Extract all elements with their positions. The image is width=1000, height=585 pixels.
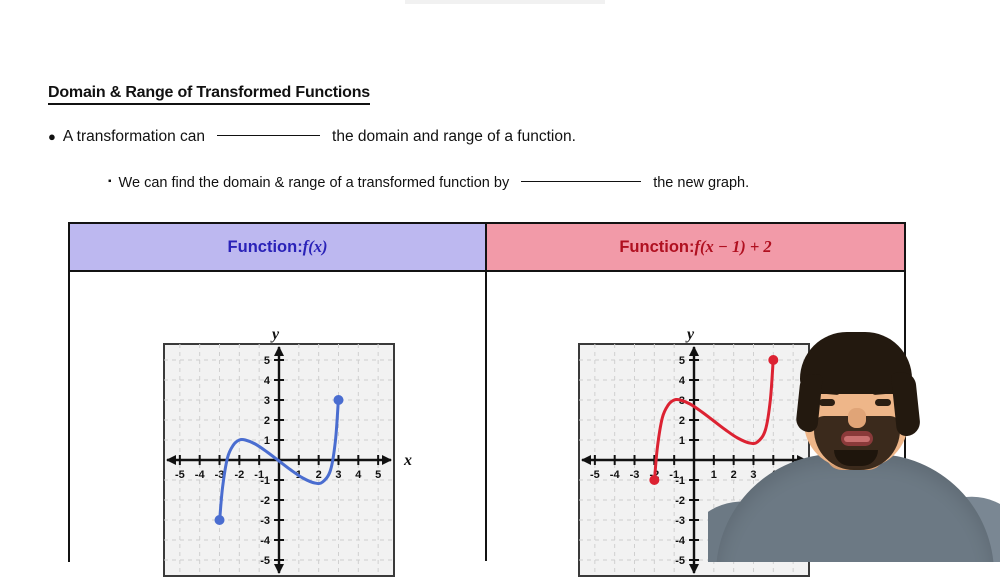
bullet1-text-before: A transformation can: [63, 128, 205, 146]
svg-text:2: 2: [731, 469, 737, 481]
svg-text:5: 5: [264, 355, 270, 367]
graph-transformed-wrapper: y -5-4-3-2-11234554321-1-2-3-4-5: [575, 340, 813, 585]
header-left-formula: f(x): [303, 237, 328, 257]
svg-text:5: 5: [375, 469, 381, 481]
svg-text:5: 5: [790, 469, 796, 481]
graph-original: -5-4-3-2-11234554321-1-2-3-4-5: [160, 340, 398, 580]
page-title: Domain & Range of Transformed Functions: [48, 84, 370, 105]
svg-text:1: 1: [711, 469, 717, 481]
svg-text:-4: -4: [195, 469, 206, 481]
table-header-row: Function: f(x) Function: f(x − 1) + 2: [70, 224, 904, 272]
svg-text:-3: -3: [630, 469, 640, 481]
svg-text:4: 4: [355, 469, 362, 481]
svg-text:-5: -5: [175, 469, 185, 481]
svg-text:4: 4: [264, 375, 271, 387]
svg-text:-5: -5: [260, 555, 270, 567]
graph-original-wrapper: y x -5-4-3-2-11234554321-1-2-3-4-5: [160, 340, 398, 585]
svg-text:-2: -2: [675, 495, 685, 507]
bullet-round-icon: ●: [48, 130, 56, 143]
bullet-level2: ▪ We can find the domain & range of a tr…: [108, 175, 749, 191]
svg-text:4: 4: [679, 375, 686, 387]
header-cell-transformed: Function: f(x − 1) + 2: [487, 224, 904, 270]
svg-text:5: 5: [679, 355, 685, 367]
svg-text:1: 1: [679, 435, 685, 447]
bullet2-blank: [521, 181, 641, 182]
svg-text:2: 2: [316, 469, 322, 481]
svg-text:1: 1: [264, 435, 270, 447]
svg-text:2: 2: [679, 415, 685, 427]
header-cell-original: Function: f(x): [70, 224, 487, 270]
svg-text:2: 2: [264, 415, 270, 427]
bullet2-text-after: the new graph.: [653, 175, 749, 191]
graph-transformed: -5-4-3-2-11234554321-1-2-3-4-5: [575, 340, 813, 580]
bullet-square-icon: ▪: [108, 177, 112, 187]
y-axis-letter-right: y: [687, 326, 694, 344]
body-cell-original: y x -5-4-3-2-11234554321-1-2-3-4-5: [70, 272, 487, 561]
svg-text:-1: -1: [675, 475, 685, 487]
svg-text:4: 4: [770, 469, 777, 481]
bullet1-blank: [217, 135, 320, 136]
svg-text:-5: -5: [675, 555, 685, 567]
svg-text:-3: -3: [675, 515, 685, 527]
function-comparison-table: Function: f(x) Function: f(x − 1) + 2 y …: [68, 222, 906, 562]
bullet-level1: ● A transformation can the domain and ra…: [48, 128, 576, 146]
header-right-prefix: Function:: [619, 238, 694, 257]
svg-text:3: 3: [335, 469, 341, 481]
svg-text:3: 3: [264, 395, 270, 407]
bullet2-text-before: We can find the domain & range of a tran…: [119, 175, 510, 191]
table-body-row: y x -5-4-3-2-11234554321-1-2-3-4-5 y -5-…: [70, 272, 904, 561]
header-left-prefix: Function:: [228, 238, 303, 257]
svg-text:3: 3: [750, 469, 756, 481]
svg-text:-2: -2: [260, 495, 270, 507]
top-edge-band: [405, 0, 605, 4]
svg-text:-4: -4: [675, 535, 686, 547]
svg-text:-3: -3: [260, 515, 270, 527]
svg-text:-5: -5: [590, 469, 600, 481]
y-axis-letter-left: y: [272, 326, 279, 344]
body-cell-transformed: y -5-4-3-2-11234554321-1-2-3-4-5: [487, 272, 904, 561]
svg-text:-2: -2: [234, 469, 244, 481]
bullet1-text-after: the domain and range of a function.: [332, 128, 576, 146]
x-axis-letter-left: x: [404, 452, 412, 470]
shoulder-right: [905, 486, 1000, 562]
svg-text:-1: -1: [260, 475, 270, 487]
svg-text:-4: -4: [260, 535, 271, 547]
header-right-formula: f(x − 1) + 2: [695, 237, 772, 257]
svg-text:-4: -4: [610, 469, 621, 481]
